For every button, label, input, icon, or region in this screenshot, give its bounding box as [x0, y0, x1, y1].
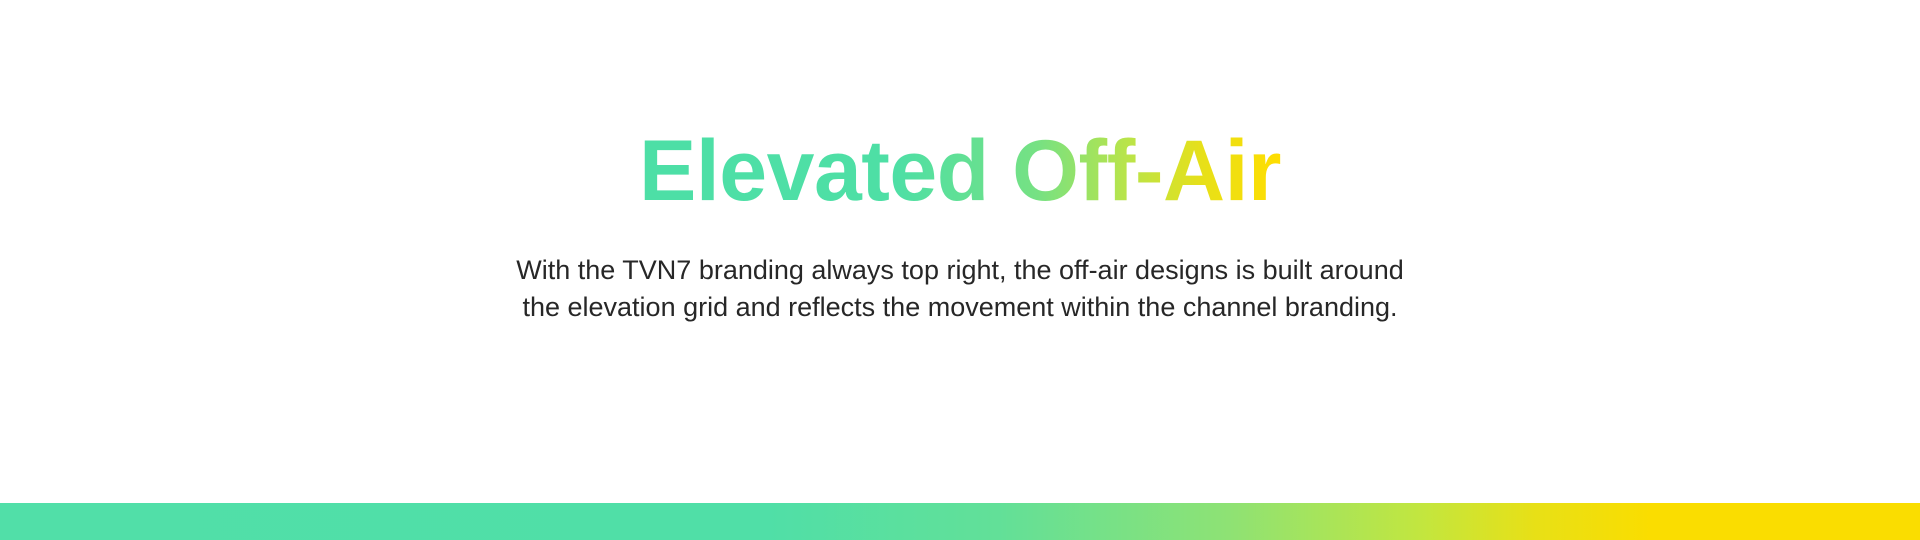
- slide-root: Elevated Off-Air With the TVN7 branding …: [0, 0, 1920, 540]
- slide-description: With the TVN7 branding always top right,…: [516, 252, 1403, 326]
- description-line-2: the elevation grid and reflects the move…: [516, 289, 1403, 326]
- slide-content: Elevated Off-Air With the TVN7 branding …: [0, 0, 1920, 503]
- page-title: Elevated Off-Air: [639, 128, 1281, 216]
- description-line-1: With the TVN7 branding always top right,…: [516, 252, 1403, 289]
- bottom-gradient-bar: [0, 503, 1920, 540]
